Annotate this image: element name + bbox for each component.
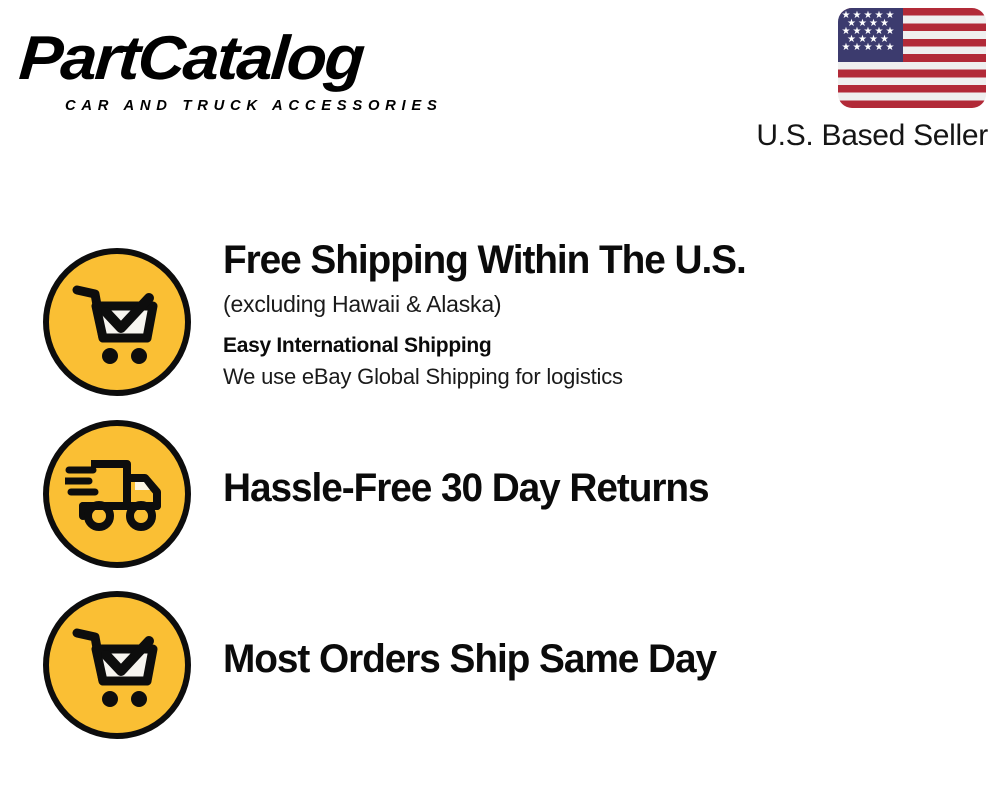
brand-wordmark: PartCatalog <box>17 24 365 94</box>
brand-logo[interactable]: PartCatalog CAR AND TRUCK ACCESSORIES <box>22 24 492 116</box>
page-header: PartCatalog CAR AND TRUCK ACCESSORIES ★ … <box>0 0 1000 170</box>
feature-title: Hassle-Free 30 Day Returns <box>223 464 709 512</box>
us-based-seller-badge: ★ ★ ★ ★ ★ ★ ★ ★ ★ ★ ★ ★ ★ ★ ★ ★ ★ ★ ★ ★ <box>718 8 988 153</box>
flag-stars: ★ ★ ★ ★ ★ ★ ★ ★ ★ ★ ★ ★ ★ ★ ★ ★ ★ ★ ★ ★ <box>838 8 903 62</box>
brand-tagline: CAR AND TRUCK ACCESSORIES <box>65 98 443 114</box>
cart-check-glyph <box>65 276 169 368</box>
feature-text-block: Free Shipping Within The U.S. (excluding… <box>223 236 983 392</box>
shopping-cart-check-icon <box>43 248 191 396</box>
seller-label: U.S. Based Seller <box>718 119 988 153</box>
feature-text-block: Most Orders Ship Same Day <box>223 579 731 739</box>
feature-title: Most Orders Ship Same Day <box>223 635 716 683</box>
feature-text-block: Hassle-Free 30 Day Returns <box>223 408 724 568</box>
cart-check-glyph <box>65 619 169 711</box>
feature-row: Most Orders Ship Same Day <box>0 579 1000 739</box>
truck-glyph <box>65 454 169 534</box>
feature-subtitle: (excluding Hawaii & Alaska) <box>223 289 983 320</box>
feature-secondary-subtitle: We use eBay Global Shipping for logistic… <box>223 362 983 392</box>
us-flag-icon: ★ ★ ★ ★ ★ ★ ★ ★ ★ ★ ★ ★ ★ ★ ★ ★ ★ ★ ★ ★ <box>838 8 986 108</box>
feature-row: Free Shipping Within The U.S. (excluding… <box>0 236 1000 396</box>
delivery-truck-icon <box>43 420 191 568</box>
feature-secondary-title: Easy International Shipping <box>223 332 983 360</box>
feature-row: Hassle-Free 30 Day Returns <box>0 408 1000 568</box>
feature-title: Free Shipping Within The U.S. <box>223 236 960 284</box>
shopping-cart-check-icon <box>43 591 191 739</box>
